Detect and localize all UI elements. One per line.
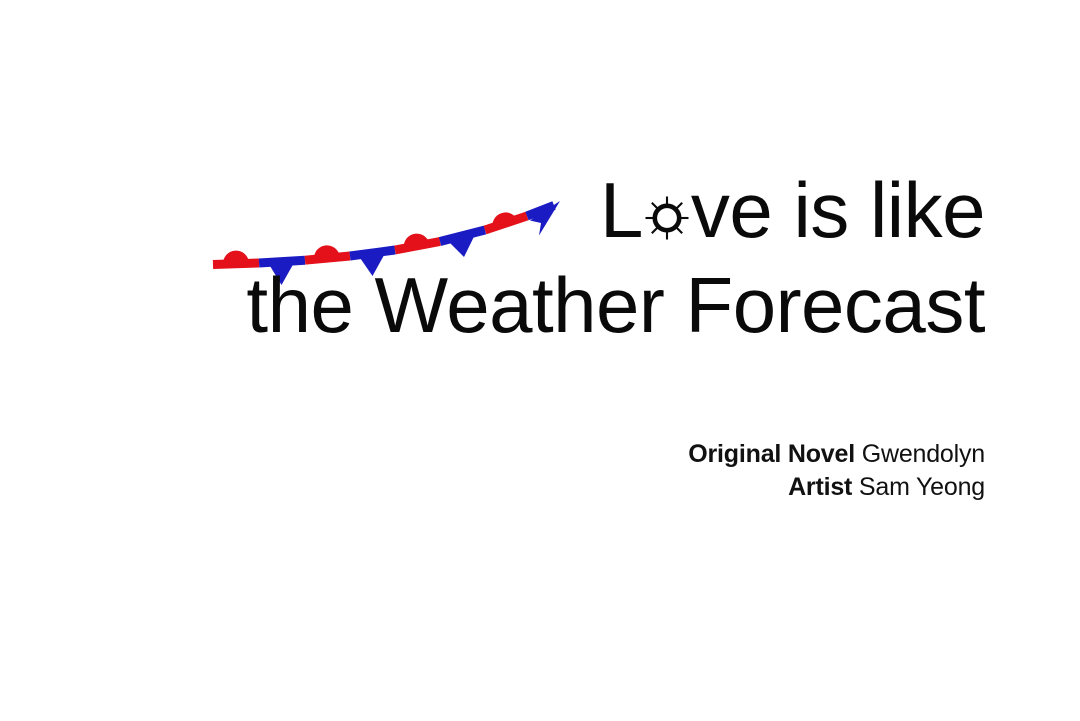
credit-row-artist: Artist Sam Yeong — [60, 471, 985, 504]
sun-icon-svg — [644, 195, 690, 241]
credit-value-original-novel: Gwendolyn — [862, 440, 985, 468]
title-line1-before-sun: L — [600, 166, 643, 254]
sun-ray-ne — [676, 203, 682, 209]
credits-block: Original Novel Gwendolyn Artist Sam Yeon… — [60, 438, 985, 504]
title-line-1: L ve is like — [60, 168, 985, 252]
sun-icon-disc — [655, 206, 679, 230]
title-block: L ve is like the Weather Forecast — [60, 168, 985, 348]
sun-icon — [644, 195, 690, 241]
sun-ray-sw — [652, 227, 658, 233]
sun-ray-se — [676, 227, 682, 233]
title-line1-after-sun: ve is like — [691, 166, 985, 254]
credit-row-original-novel: Original Novel Gwendolyn — [60, 438, 985, 471]
sun-ray-nw — [652, 203, 658, 209]
title-line-2: the Weather Forecast — [60, 262, 985, 348]
credit-label-artist: Artist — [788, 473, 852, 501]
poster-canvas: L ve is like the Weather Forecast Or — [0, 0, 1080, 721]
credit-value-artist: Sam Yeong — [859, 473, 985, 501]
sun-icon-rays — [645, 197, 688, 240]
credit-label-original-novel: Original Novel — [688, 440, 855, 468]
